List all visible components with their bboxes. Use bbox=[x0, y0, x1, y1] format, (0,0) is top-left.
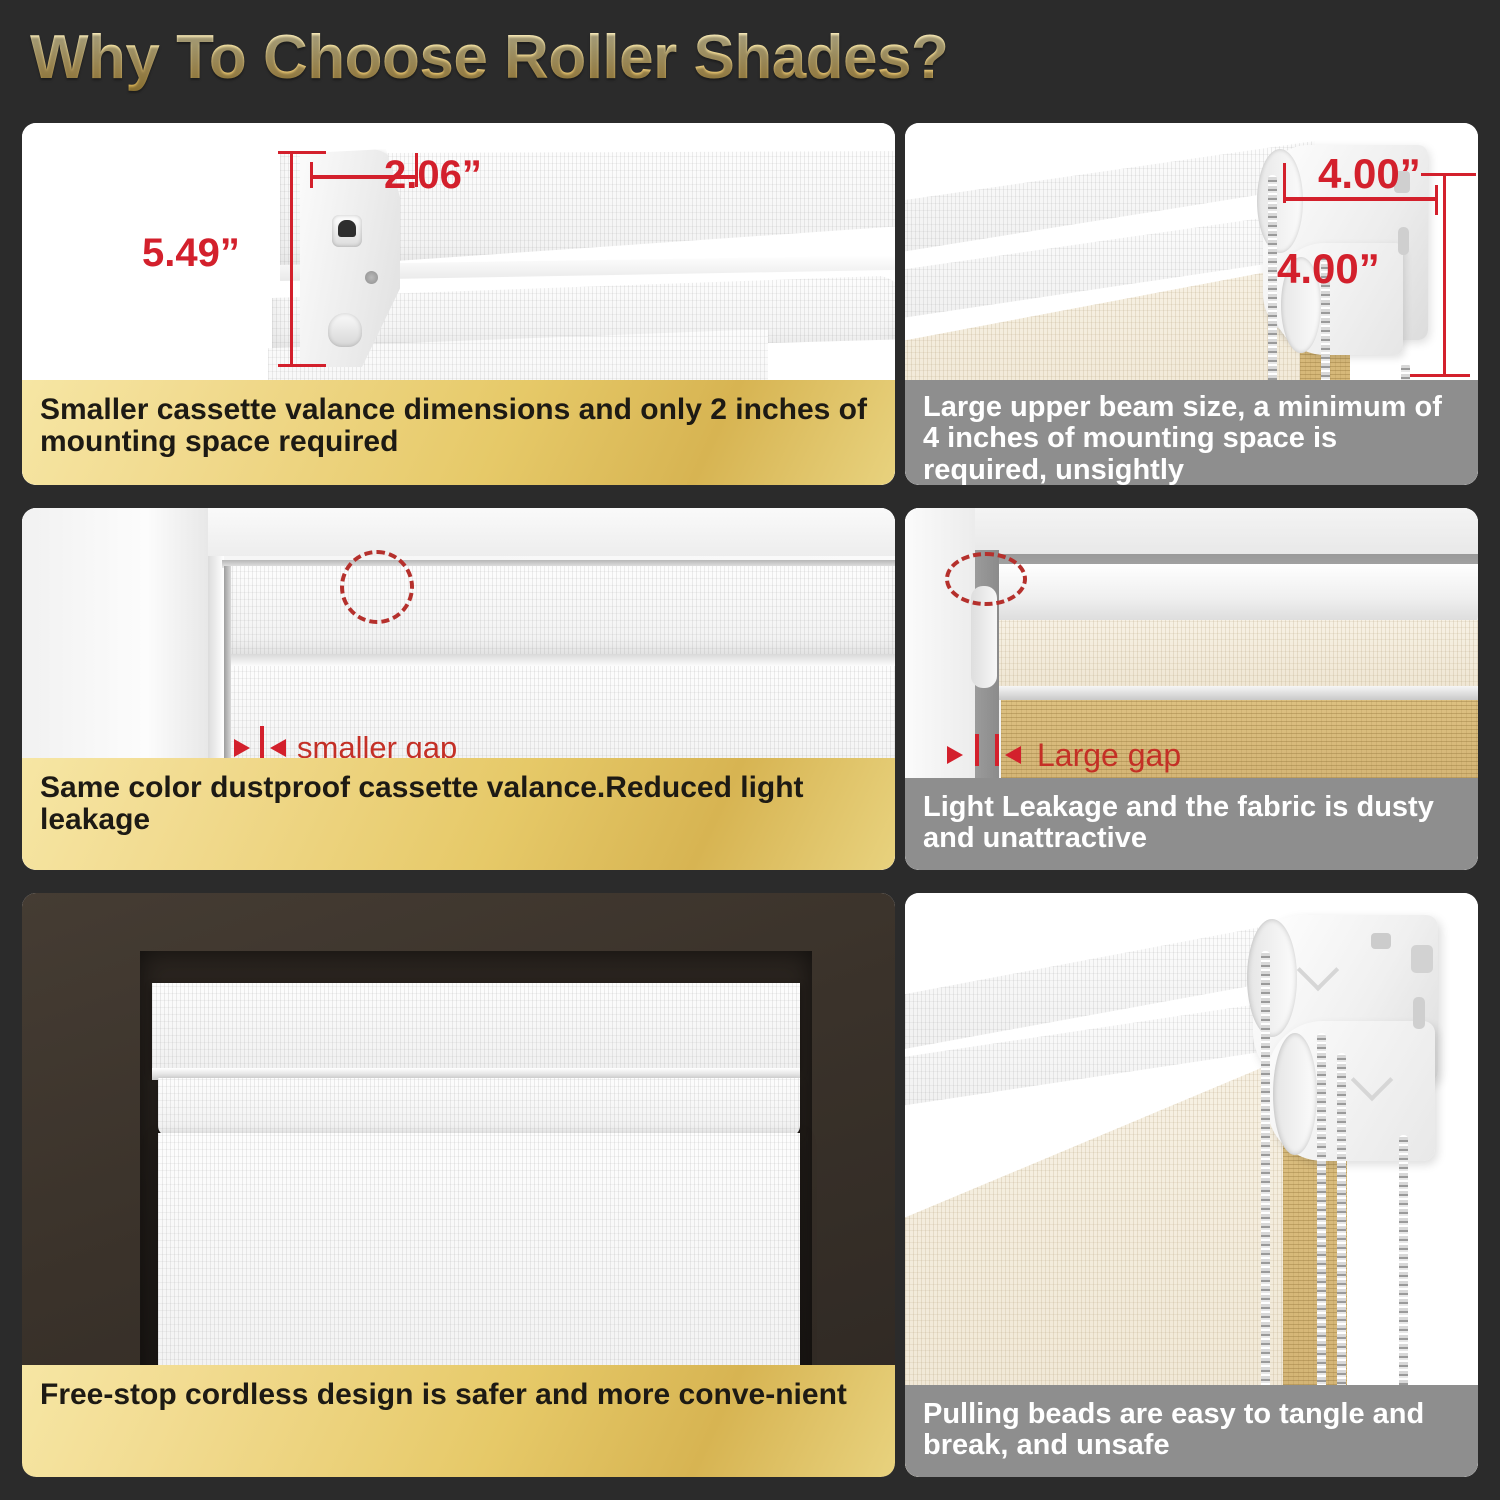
window-frame-left bbox=[22, 508, 214, 798]
panel-4-caption: Light Leakage and the fabric is dusty an… bbox=[905, 778, 1478, 870]
infographic-root: Why To Choose Roller Shades? 2.06” bbox=[0, 0, 1500, 1500]
height-dim-line bbox=[290, 151, 293, 367]
gap-label: Large gap bbox=[1037, 737, 1181, 774]
panel-pro-cassette-dimensions: 2.06” 5.49” Smaller cassette valance dim… bbox=[22, 123, 895, 485]
bracket-notch-icon bbox=[1398, 227, 1409, 255]
height-dim-label: 5.49” bbox=[142, 231, 240, 276]
gap-arrow-right-icon bbox=[1005, 746, 1021, 764]
mechanism-slot bbox=[338, 220, 356, 237]
panel-con-light-leakage: Large gap Light Leakage and the fabric i… bbox=[905, 508, 1478, 870]
cassette-valance bbox=[224, 566, 895, 656]
panel-6-caption: Pulling beads are easy to tangle and bre… bbox=[905, 1385, 1478, 1477]
window-frame-top bbox=[208, 508, 895, 556]
shade-fabric-cream bbox=[977, 620, 1478, 688]
height-dim-line bbox=[1443, 173, 1446, 377]
highlight-circle bbox=[945, 552, 1027, 606]
lower-bracket-clip-icon bbox=[328, 313, 362, 347]
tube-end-disc-lower bbox=[1273, 1033, 1317, 1155]
panel-3-caption: Same color dustproof cassette valance.Re… bbox=[22, 758, 895, 870]
width-dim-tick-left bbox=[310, 162, 313, 188]
tube-end-disc bbox=[1257, 149, 1303, 253]
panel-con-large-beam: 4.00” 4.00” Large upper beam size, a min… bbox=[905, 123, 1478, 485]
gap-arrow-right-icon bbox=[270, 739, 286, 757]
roller-tube bbox=[969, 564, 1478, 626]
panel-pro-cordless-design: Free-stop cordless design is safer and m… bbox=[22, 893, 895, 1477]
width-dim-tick-right bbox=[1435, 185, 1438, 215]
gap-marker-line bbox=[260, 726, 264, 760]
gap-arrow-left-icon bbox=[234, 739, 250, 757]
cassette-valance bbox=[152, 983, 800, 1071]
highlight-circle bbox=[340, 550, 414, 624]
panel-2-caption: Large upper beam size, a minimum of 4 in… bbox=[905, 380, 1478, 485]
height-dim-tick-bottom bbox=[1410, 374, 1470, 377]
bottom-rail bbox=[977, 686, 1478, 700]
panel-1-caption: Smaller cassette valance dimensions and … bbox=[22, 380, 895, 485]
panel-con-pulling-beads: Pulling beads are easy to tangle and bre… bbox=[905, 893, 1478, 1477]
bracket-side-slot-icon bbox=[1413, 997, 1425, 1029]
width-dim-tick-left bbox=[1283, 163, 1286, 203]
panel-pro-smaller-gap: smaller gap Same color dustproof cassett… bbox=[22, 508, 895, 870]
valance-bottom-lip bbox=[224, 654, 895, 666]
height-dim-tick-bottom bbox=[278, 364, 326, 367]
gap-marker-line-right bbox=[995, 734, 999, 766]
width-dim-label: 2.06” bbox=[384, 153, 482, 198]
height-dim-tick-top bbox=[278, 151, 326, 154]
screw-icon bbox=[365, 271, 378, 284]
tube-end-disc bbox=[1247, 919, 1297, 1037]
gap-marker-line-left bbox=[975, 734, 979, 766]
gap-arrow-left-icon bbox=[947, 746, 963, 764]
bracket-notch-icon bbox=[1411, 945, 1433, 973]
height-dim-tick-top bbox=[1421, 173, 1476, 176]
bracket-slot-icon bbox=[1371, 933, 1391, 949]
height-dim-label: 4.00” bbox=[1277, 245, 1380, 293]
valance-lower-roll bbox=[158, 1078, 800, 1136]
panel-5-caption: Free-stop cordless design is safer and m… bbox=[22, 1365, 895, 1477]
page-title: Why To Choose Roller Shades? bbox=[30, 22, 948, 93]
width-dim-label: 4.00” bbox=[1318, 150, 1421, 198]
window-edge bbox=[905, 508, 975, 798]
